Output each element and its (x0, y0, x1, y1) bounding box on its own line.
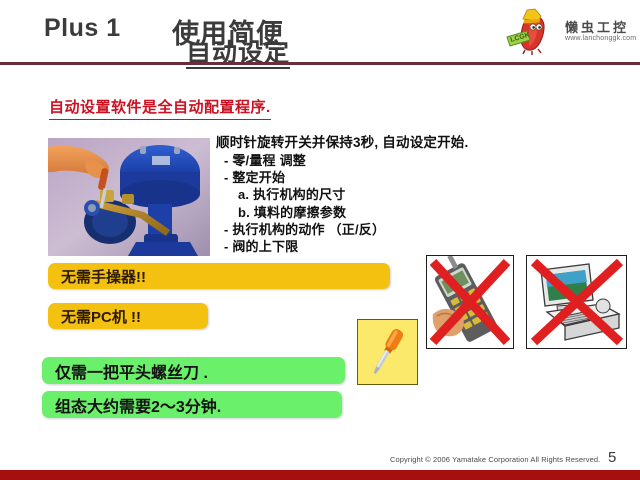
list-item: - 整定开始 (224, 169, 385, 186)
section-heading: 自动设置软件是全自动配置程序. (49, 96, 271, 120)
instruction-lead-text: 顺时针旋转开关并保持3秒, 自动设定开始. (216, 131, 468, 151)
list-item: - 阀的上下限 (224, 238, 385, 255)
page-number: 5 (608, 449, 616, 466)
slide-header: Plus 1 使用简便 自动设定 (0, 0, 640, 64)
crossed-out-handheld-terminal (426, 255, 514, 349)
valve-adjustment-photo (48, 138, 210, 256)
callout-label: 无需PC机 !! (48, 306, 141, 327)
list-item: - 执行机构的动作 （正/反） (224, 221, 385, 238)
list-item: - 零/量程 调整 (224, 152, 385, 169)
list-item: a. 执行机构的尺寸 (224, 186, 385, 203)
header-divider (0, 62, 640, 65)
mascot-icon: LCGK (505, 7, 561, 55)
logo-website: www.lanchonggk.com (565, 35, 636, 42)
callout-only-screwdriver: 仅需一把平头螺丝刀 . (42, 357, 345, 384)
brand-logo: LCGK 懒虫工控 www.lanchonggk.com (505, 7, 633, 55)
copyright-text: Copyright © 2006 Yamatake Corporation Al… (390, 455, 600, 464)
screwdriver-thumbnail (357, 319, 418, 385)
footer-bar (0, 470, 640, 480)
slide-root: Plus 1 使用简便 自动设定 (0, 0, 640, 480)
callout-label: 无需手操器!! (48, 266, 146, 287)
callout-label: 组态大约需要2～3分钟. (42, 393, 221, 417)
crossed-out-pc (526, 255, 627, 349)
logo-company-name: 懒虫工控 (565, 17, 629, 36)
callout-setup-time: 组态大约需要2～3分钟. (42, 391, 342, 418)
callout-no-handheld: 无需手操器!! (48, 263, 390, 289)
list-item: b. 填料的摩擦参数 (224, 204, 385, 221)
screwdriver-icon (358, 320, 414, 381)
callout-label: 仅需一把平头螺丝刀 . (42, 359, 208, 383)
callout-no-pc: 无需PC机 !! (48, 303, 208, 329)
instruction-list: - 零/量程 调整 - 整定开始 a. 执行机构的尺寸 b. 填料的摩擦参数 -… (224, 152, 385, 255)
page-title-plus: Plus 1 (44, 14, 121, 43)
